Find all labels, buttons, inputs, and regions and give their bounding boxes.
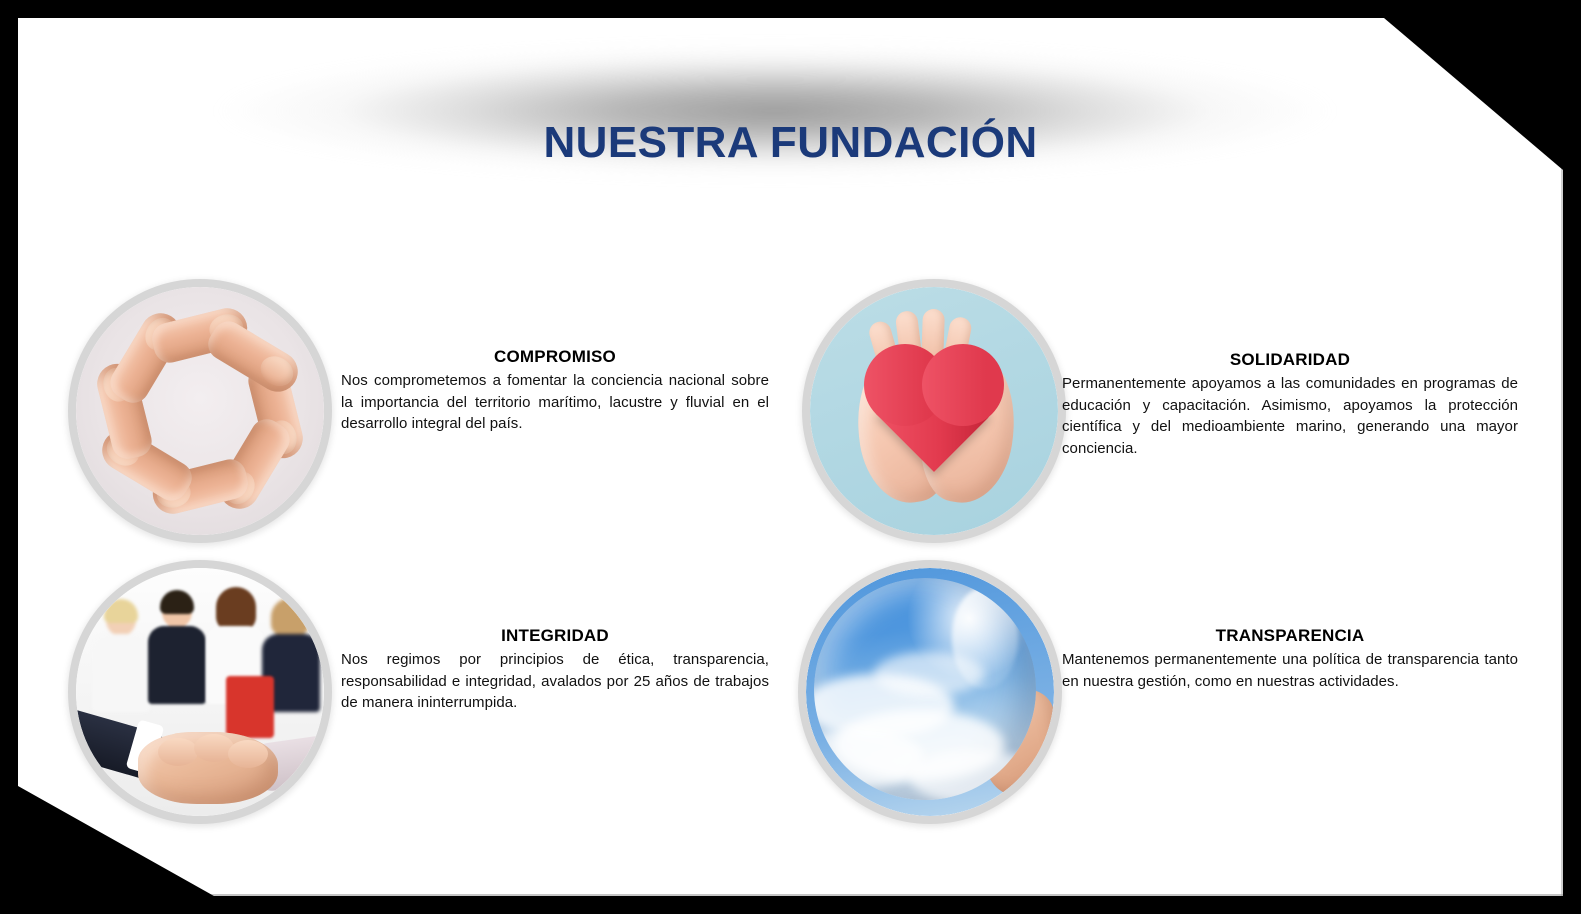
presentation-slide: NUESTRA FUNDACIÓN [0, 0, 1581, 914]
value-heading: TRANSPARENCIA [1062, 626, 1518, 646]
business-handshake-icon [76, 568, 324, 816]
circle-of-hands-icon [76, 287, 324, 535]
value-body: Permanentemente apoyamos a las comunidad… [1062, 373, 1518, 459]
value-text-integridad: INTEGRIDAD Nos regimos por principios de… [341, 626, 769, 714]
value-heading: COMPROMISO [341, 347, 769, 367]
hands-holding-heart-icon [810, 287, 1058, 535]
value-text-transparencia: TRANSPARENCIA Mantenemos permanentemente… [1062, 626, 1518, 692]
value-heading: SOLIDARIDAD [1062, 350, 1518, 370]
circle-of-hands-photo [76, 287, 324, 535]
handshake-foreground [76, 702, 324, 816]
business-handshake-photo [76, 568, 324, 816]
hands-holding-heart-photo [810, 287, 1058, 535]
value-text-compromiso: COMPROMISO Nos comprometemos a fomentar … [341, 347, 769, 435]
values-grid: COMPROMISO Nos comprometemos a fomentar … [0, 0, 1581, 914]
value-text-solidaridad: SOLIDARIDAD Permanentemente apoyamos a l… [1062, 350, 1518, 459]
value-heading: INTEGRIDAD [341, 626, 769, 646]
value-body: Mantenemos permanentemente una política … [1062, 649, 1518, 692]
glass-sphere [814, 578, 1036, 800]
value-body: Nos comprometemos a fomentar la concienc… [341, 370, 769, 435]
value-body: Nos regimos por principios de ética, tra… [341, 649, 769, 714]
glass-sphere-sky-photo [806, 568, 1054, 816]
glass-sphere-sky-icon [806, 568, 1054, 816]
